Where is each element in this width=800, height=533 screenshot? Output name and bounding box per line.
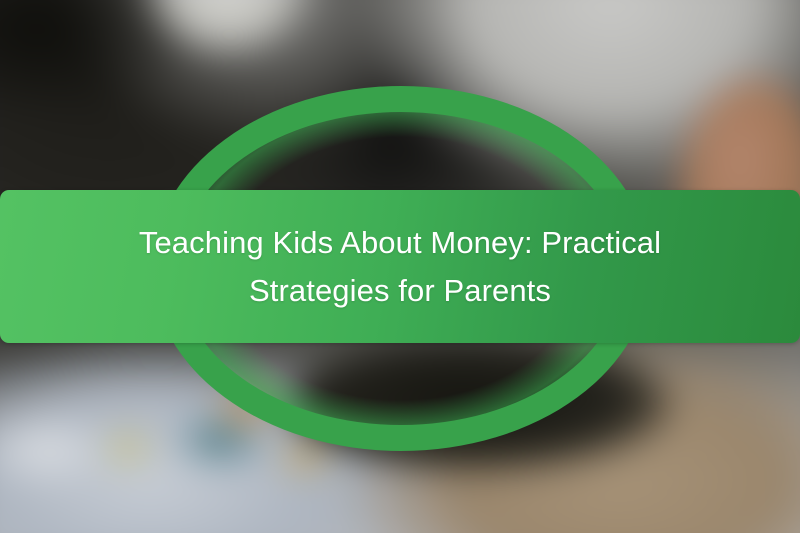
page-title: Teaching Kids About Money: Practical Str… [120, 219, 680, 315]
background-blob-dark-object [290, 340, 670, 470]
title-banner: Teaching Kids About Money: Practical Str… [0, 190, 800, 343]
background-blob-orange-object [215, 390, 275, 430]
background-blob-orange-object-2 [278, 440, 332, 474]
background-blob-dark-top-left [0, 0, 180, 110]
header-image-canvas: Teaching Kids About Money: Practical Str… [0, 0, 800, 533]
background-blob-yellow-object [105, 432, 151, 464]
